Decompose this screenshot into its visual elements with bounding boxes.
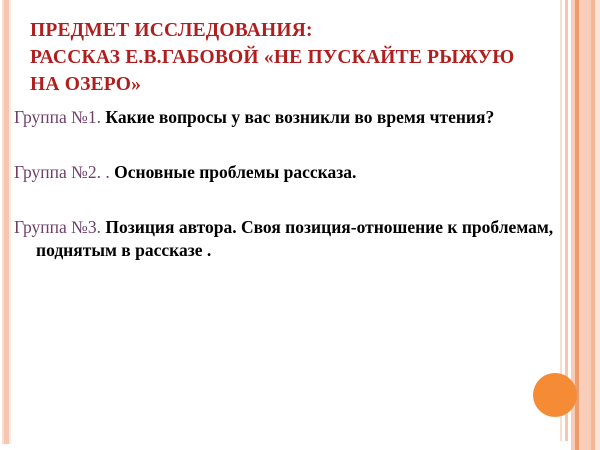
- slide-title-line-1: ПРЕДМЕТ ИССЛЕДОВАНИЯ:: [30, 17, 535, 44]
- right-stripe-4: [575, 0, 579, 450]
- list-item-group-2: Группа №2. . Основные проблемы рассказа.: [14, 161, 566, 184]
- group-text-3: Позиция автора. Своя позиция-отношение к…: [36, 217, 553, 260]
- right-stripe-7: [595, 0, 600, 450]
- group-text-2: Основные проблемы рассказа.: [110, 162, 357, 182]
- slide-title-line-2: РАССКАЗ Е.В.ГАБОВОЙ «НЕ ПУСКАЙТЕ РЫЖУЮ: [30, 44, 535, 71]
- presentation-slide: ПРЕДМЕТ ИССЛЕДОВАНИЯ: РАССКАЗ Е.В.ГАБОВО…: [0, 0, 600, 450]
- left-stripe-inner: [2, 0, 4, 444]
- group-label-2: Группа №2. .: [14, 162, 110, 182]
- orange-circle-icon: [533, 373, 577, 417]
- right-stripe-6: [591, 0, 595, 450]
- left-stripe-main: [4, 0, 9, 444]
- slide-title: ПРЕДМЕТ ИССЛЕДОВАНИЯ: РАССКАЗ Е.В.ГАБОВО…: [30, 17, 535, 98]
- list-item-group-3: Группа №3. Позиция автора. Своя позиция-…: [14, 216, 566, 262]
- group-label-3: Группа №3.: [14, 217, 101, 237]
- group-label-1: Группа №1.: [14, 107, 101, 127]
- right-stripe-5: [579, 0, 591, 450]
- slide-title-line-3: НА ОЗЕРО»: [30, 71, 535, 98]
- group-text-1: Какие вопросы у вас возникли во время чт…: [101, 107, 494, 127]
- left-stripe-outer: [9, 0, 11, 444]
- list-item-group-1: Группа №1. Какие вопросы у вас возникли …: [14, 106, 566, 129]
- group-task-list: Группа №1. Какие вопросы у вас возникли …: [14, 106, 566, 294]
